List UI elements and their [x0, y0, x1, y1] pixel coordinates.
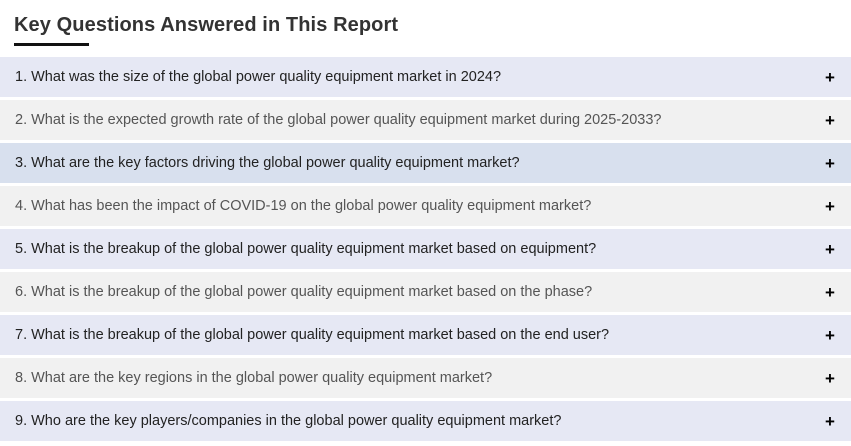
faq-row[interactable]: 2. What is the expected growth rate of t…: [0, 100, 851, 140]
faq-question-text: 9. Who are the key players/companies in …: [0, 411, 851, 431]
plus-icon[interactable]: +: [809, 358, 851, 398]
plus-icon[interactable]: +: [809, 315, 851, 355]
faq-row[interactable]: 9. Who are the key players/companies in …: [0, 401, 851, 441]
faq-row[interactable]: 4. What has been the impact of COVID-19 …: [0, 186, 851, 226]
plus-icon[interactable]: +: [809, 229, 851, 269]
plus-icon[interactable]: +: [809, 100, 851, 140]
faq-question-text: 8. What are the key regions in the globa…: [0, 368, 851, 388]
faq-question-text: 2. What is the expected growth rate of t…: [0, 110, 851, 130]
faq-question-text: 5. What is the breakup of the global pow…: [0, 239, 851, 259]
plus-icon[interactable]: +: [809, 143, 851, 183]
faq-page: Key Questions Answered in This Report 1.…: [0, 0, 851, 446]
faq-row[interactable]: 1. What was the size of the global power…: [0, 57, 851, 97]
faq-row[interactable]: 3. What are the key factors driving the …: [0, 143, 851, 183]
faq-row[interactable]: 5. What is the breakup of the global pow…: [0, 229, 851, 269]
plus-icon[interactable]: +: [809, 186, 851, 226]
faq-question-text: 7. What is the breakup of the global pow…: [0, 325, 851, 345]
faq-row[interactable]: 6. What is the breakup of the global pow…: [0, 272, 851, 312]
plus-icon[interactable]: +: [809, 401, 851, 441]
faq-question-text: 4. What has been the impact of COVID-19 …: [0, 196, 851, 216]
faq-question-text: 3. What are the key factors driving the …: [0, 153, 851, 173]
page-title: Key Questions Answered in This Report: [14, 13, 851, 37]
heading-block: Key Questions Answered in This Report: [0, 0, 851, 46]
faq-accordion-list: 1. What was the size of the global power…: [0, 57, 851, 441]
faq-row[interactable]: 7. What is the breakup of the global pow…: [0, 315, 851, 355]
faq-question-text: 6. What is the breakup of the global pow…: [0, 282, 851, 302]
plus-icon[interactable]: +: [809, 272, 851, 312]
faq-question-text: 1. What was the size of the global power…: [0, 67, 851, 87]
faq-row[interactable]: 8. What are the key regions in the globa…: [0, 358, 851, 398]
plus-icon[interactable]: +: [809, 57, 851, 97]
title-underline: [14, 43, 89, 46]
